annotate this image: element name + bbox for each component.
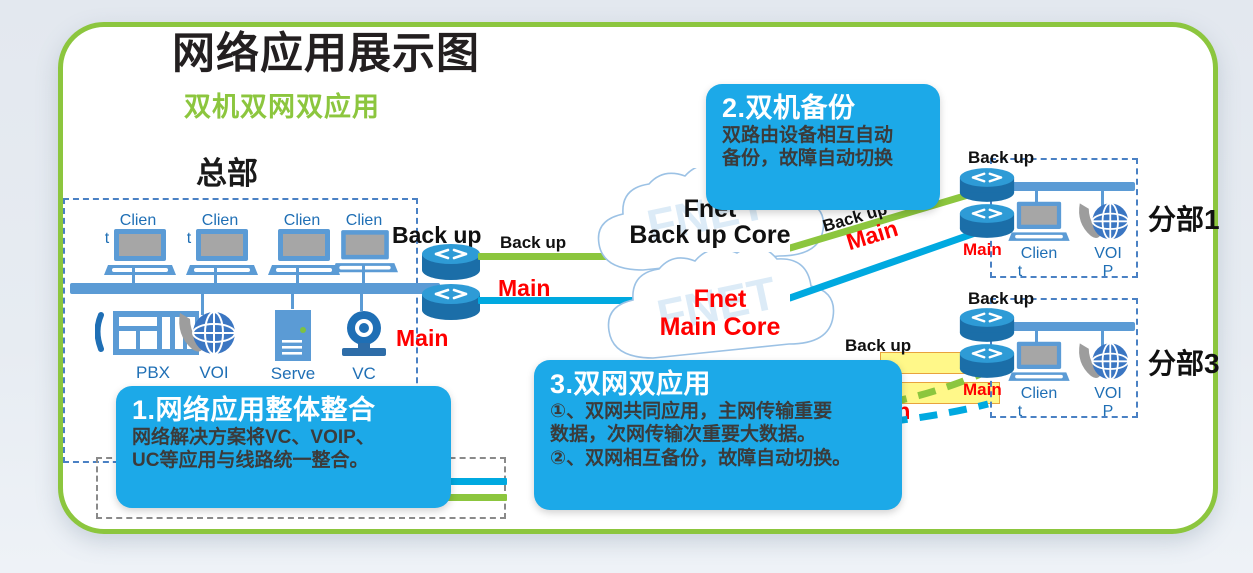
headquarters-title: 总部	[196, 148, 258, 193]
hq-client-stub-3	[296, 265, 299, 285]
branch3-voip-label-1: VOI	[1078, 386, 1138, 402]
callout-3[interactable]: 3.双网双应用 ①、双网共同应用，主网传输重要 数据，次网传输次重要大数据。 ②…	[534, 360, 902, 510]
callout-2-line2: 备份，故障自动切换	[722, 147, 924, 171]
branch1-voip-label-1: VOI	[1078, 246, 1138, 262]
callout-3-heading: 3.双网双应用	[550, 370, 886, 400]
branch3-title: 分部3	[1148, 342, 1220, 382]
branch3-client: Clien t	[1008, 340, 1070, 391]
callout-2-line1: 双路由设备相互自动	[722, 124, 924, 148]
hq-client-stub-2	[214, 265, 217, 285]
callout-2-heading: 2.双机备份	[722, 94, 924, 124]
hq-device-label-voip: VOI	[180, 363, 248, 383]
laptop-icon	[1008, 200, 1070, 246]
link-hq-backup-label: Back up	[500, 233, 566, 253]
branch1-router-backup-label: Back up	[968, 148, 1034, 168]
branch1-client: Clien t	[1008, 200, 1070, 251]
callout-2[interactable]: 2.双机备份 双路由设备相互自动 备份，故障自动切换	[706, 84, 940, 210]
callout-3-line2: 数据，次网传输次重要大数据。	[550, 423, 886, 447]
video-camera-icon	[336, 308, 392, 362]
hq-bus-line	[70, 283, 440, 294]
branch1-client-label-2: t	[1008, 264, 1032, 280]
hq-device-label-vc: VC	[330, 364, 398, 384]
branch3-router-main-label: Main	[963, 380, 1002, 400]
page-title: 网络应用展示图	[172, 32, 480, 77]
hq-router-main-label: Main	[396, 325, 448, 352]
branch1-voip-label-2: P	[1078, 264, 1138, 280]
branch3-voip: VOI P	[1072, 338, 1136, 395]
link-hq-main-label: Main	[498, 275, 550, 302]
laptop-icon	[186, 227, 258, 281]
branch3-client-label-1: Clien	[1008, 386, 1070, 402]
hq-client-stub-1	[132, 265, 135, 285]
legend-dash-main	[445, 478, 507, 485]
voip-globe-icon	[1072, 338, 1136, 390]
laptop-icon	[268, 227, 340, 281]
voip-globe-icon	[172, 305, 242, 363]
callout-1[interactable]: 1.网络应用整体整合 网络解决方案将VC、VOIP、 UC等应用与线路统一整合。	[116, 386, 451, 508]
hq-router-main	[420, 282, 482, 327]
branch1-bus-line	[995, 182, 1135, 191]
router-icon	[958, 306, 1016, 344]
laptop-icon	[1008, 340, 1070, 386]
branch3-client-label-2: t	[1008, 404, 1032, 420]
router-icon	[420, 282, 482, 322]
hq-device-server: Serve	[273, 308, 313, 368]
branch1-voip: VOI P	[1072, 198, 1136, 255]
router-icon	[958, 166, 1016, 204]
callout-3-line3: ②、双网相互备份，故障自动切换。	[550, 447, 886, 471]
laptop-icon	[104, 227, 176, 281]
branch1-client-label-1: Clien	[1008, 246, 1070, 262]
branch3-bus-line	[995, 322, 1135, 331]
hq-device-vc: VC	[336, 308, 392, 367]
diagram-canvas: 网络应用展示图 双机双网双应用 总部 Clien t Clien t Clien…	[0, 0, 1253, 573]
hq-server-stub	[291, 293, 294, 309]
hq-device-label-server: Serve	[259, 364, 327, 384]
page-subtitle: 双机双网双应用	[184, 85, 380, 124]
callout-1-line2: UC等应用与线路统一整合。	[132, 449, 435, 473]
branch3-voip-label-2: P	[1078, 404, 1138, 420]
legend-dash-backup	[445, 494, 507, 501]
branch1-router-main-label: Main	[963, 240, 1002, 260]
voip-globe-icon	[1072, 198, 1136, 250]
hq-router-backup	[420, 242, 482, 287]
router-icon	[420, 242, 482, 282]
branch1-title: 分部1	[1148, 198, 1220, 238]
callout-3-line1: ①、双网共同应用，主网传输重要	[550, 400, 886, 424]
hq-device-voip: VOI	[172, 305, 242, 368]
hq-client-stub-4	[362, 265, 365, 285]
callout-1-heading: 1.网络应用整体整合	[132, 396, 435, 426]
laptop-icon	[332, 227, 398, 279]
callout-1-line1: 网络解决方案将VC、VOIP、	[132, 426, 435, 450]
server-icon	[273, 308, 313, 363]
